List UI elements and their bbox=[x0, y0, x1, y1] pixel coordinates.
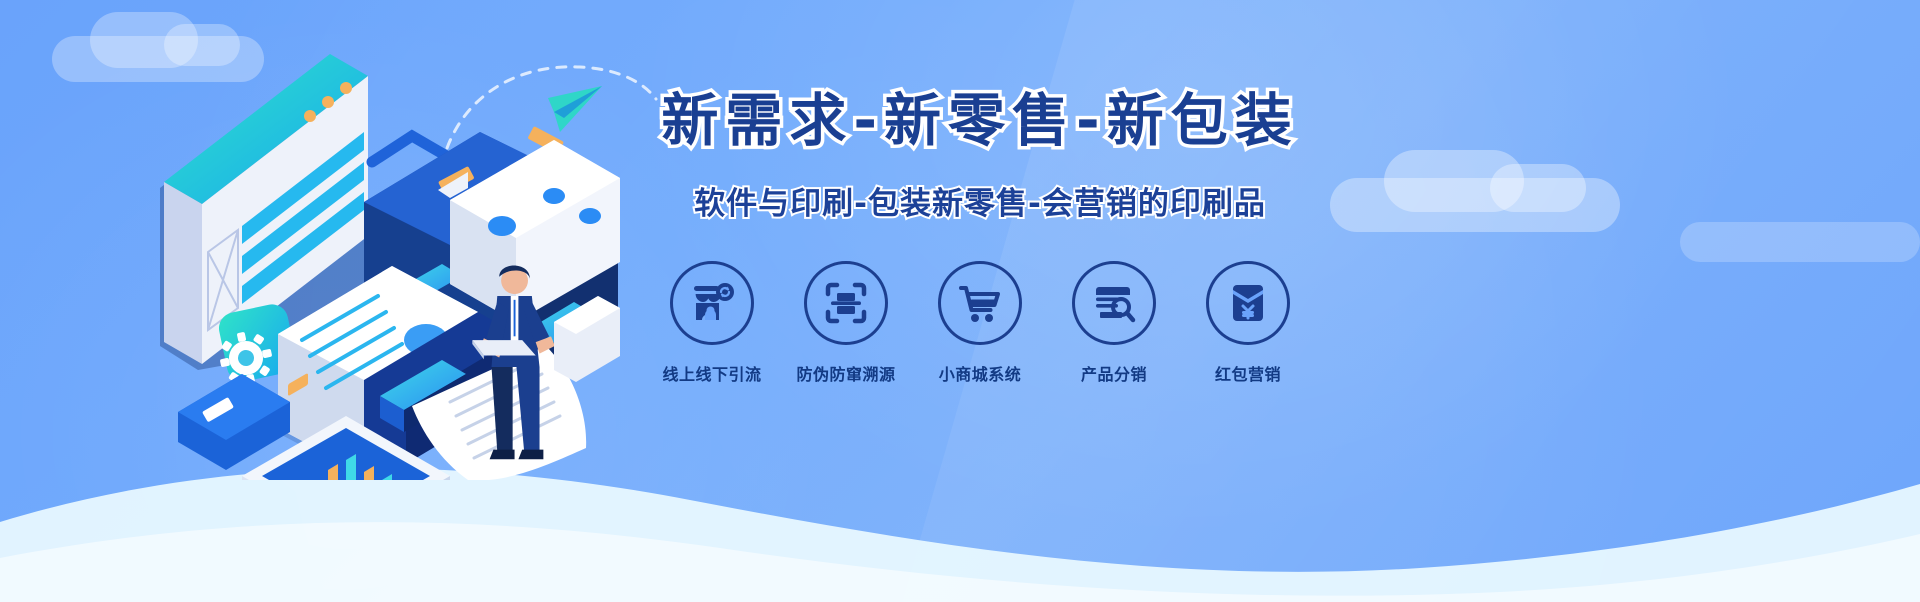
feature-label: 红包营销 bbox=[1215, 361, 1281, 385]
page-title: 新需求-新零售-新包装 bbox=[620, 92, 1340, 152]
credit-card-illustration bbox=[178, 374, 290, 470]
feature-label: 线上线下引流 bbox=[662, 361, 761, 385]
feature-list: 线上线下引流 bbox=[620, 261, 1340, 385]
cloud-right-icon bbox=[1330, 178, 1620, 232]
cloud-far-right-icon bbox=[1680, 222, 1920, 262]
shopping-cart-icon bbox=[956, 279, 1004, 327]
feature-icon-circle[interactable] bbox=[938, 261, 1022, 345]
barcode-scan-icon bbox=[822, 279, 870, 327]
paper-plane-illustration bbox=[548, 86, 602, 132]
promo-banner: 新需求-新零售-新包装 软件与印刷-包装新零售-会营销的印刷品 bbox=[0, 0, 1920, 602]
isometric-illustration bbox=[150, 40, 620, 480]
feature-item-anti-counterfeit-trace[interactable]: 防伪防窜溯源 bbox=[791, 261, 901, 385]
feature-label: 产品分销 bbox=[1081, 361, 1147, 385]
storefront-refresh-icon bbox=[688, 279, 736, 327]
feature-icon-circle[interactable] bbox=[804, 261, 888, 345]
feature-item-red-packet-marketing[interactable]: 红包营销 bbox=[1193, 261, 1303, 385]
feature-icon-circle[interactable] bbox=[1072, 261, 1156, 345]
banner-content: 新需求-新零售-新包装 软件与印刷-包装新零售-会营销的印刷品 bbox=[620, 92, 1340, 385]
feature-label: 小商城系统 bbox=[939, 361, 1022, 385]
document-search-icon bbox=[1090, 279, 1138, 327]
feature-item-online-offline-traffic[interactable]: 线上线下引流 bbox=[657, 261, 767, 385]
page-subtitle: 软件与印刷-包装新零售-会营销的印刷品 bbox=[620, 178, 1340, 223]
red-envelope-yuan-icon bbox=[1224, 279, 1272, 327]
feature-icon-circle[interactable] bbox=[670, 261, 754, 345]
feature-label: 防伪防窜溯源 bbox=[796, 361, 895, 385]
feature-icon-circle[interactable] bbox=[1206, 261, 1290, 345]
feature-item-mini-mall-system[interactable]: 小商城系统 bbox=[925, 261, 1035, 385]
feature-item-product-distribution[interactable]: 产品分销 bbox=[1059, 261, 1169, 385]
